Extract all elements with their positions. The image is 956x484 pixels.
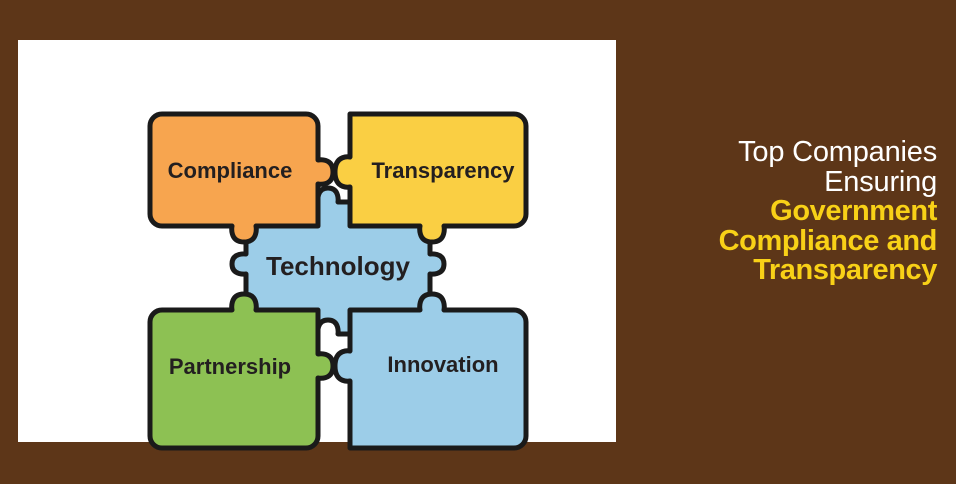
piece-transparency[interactable]: Transparency [335,114,526,242]
title-line-2: Ensuring [607,168,937,198]
title-line-3: Government [607,197,937,227]
piece-transparency-label: Transparency [371,158,515,183]
title-line-1: Top Companies [607,138,937,168]
poster-title: Top Companies Ensuring Government Compli… [607,138,937,286]
piece-partnership-label: Partnership [169,354,291,379]
piece-technology-label: Technology [266,251,411,281]
piece-partnership[interactable]: Partnership [150,294,333,448]
jigsaw-svg: Technology Compliance Transparency [138,102,538,460]
jigsaw-diagram: Technology Compliance Transparency [138,102,538,460]
poster-canvas: Technology Compliance Transparency [0,0,956,484]
title-line-4: Compliance and [607,227,937,257]
piece-compliance-label: Compliance [168,158,293,183]
title-line-5: Transparency [607,256,937,286]
piece-innovation[interactable]: Innovation [335,294,526,448]
piece-compliance[interactable]: Compliance [150,114,333,242]
image-card: Technology Compliance Transparency [18,40,616,442]
piece-innovation-label: Innovation [387,352,498,377]
